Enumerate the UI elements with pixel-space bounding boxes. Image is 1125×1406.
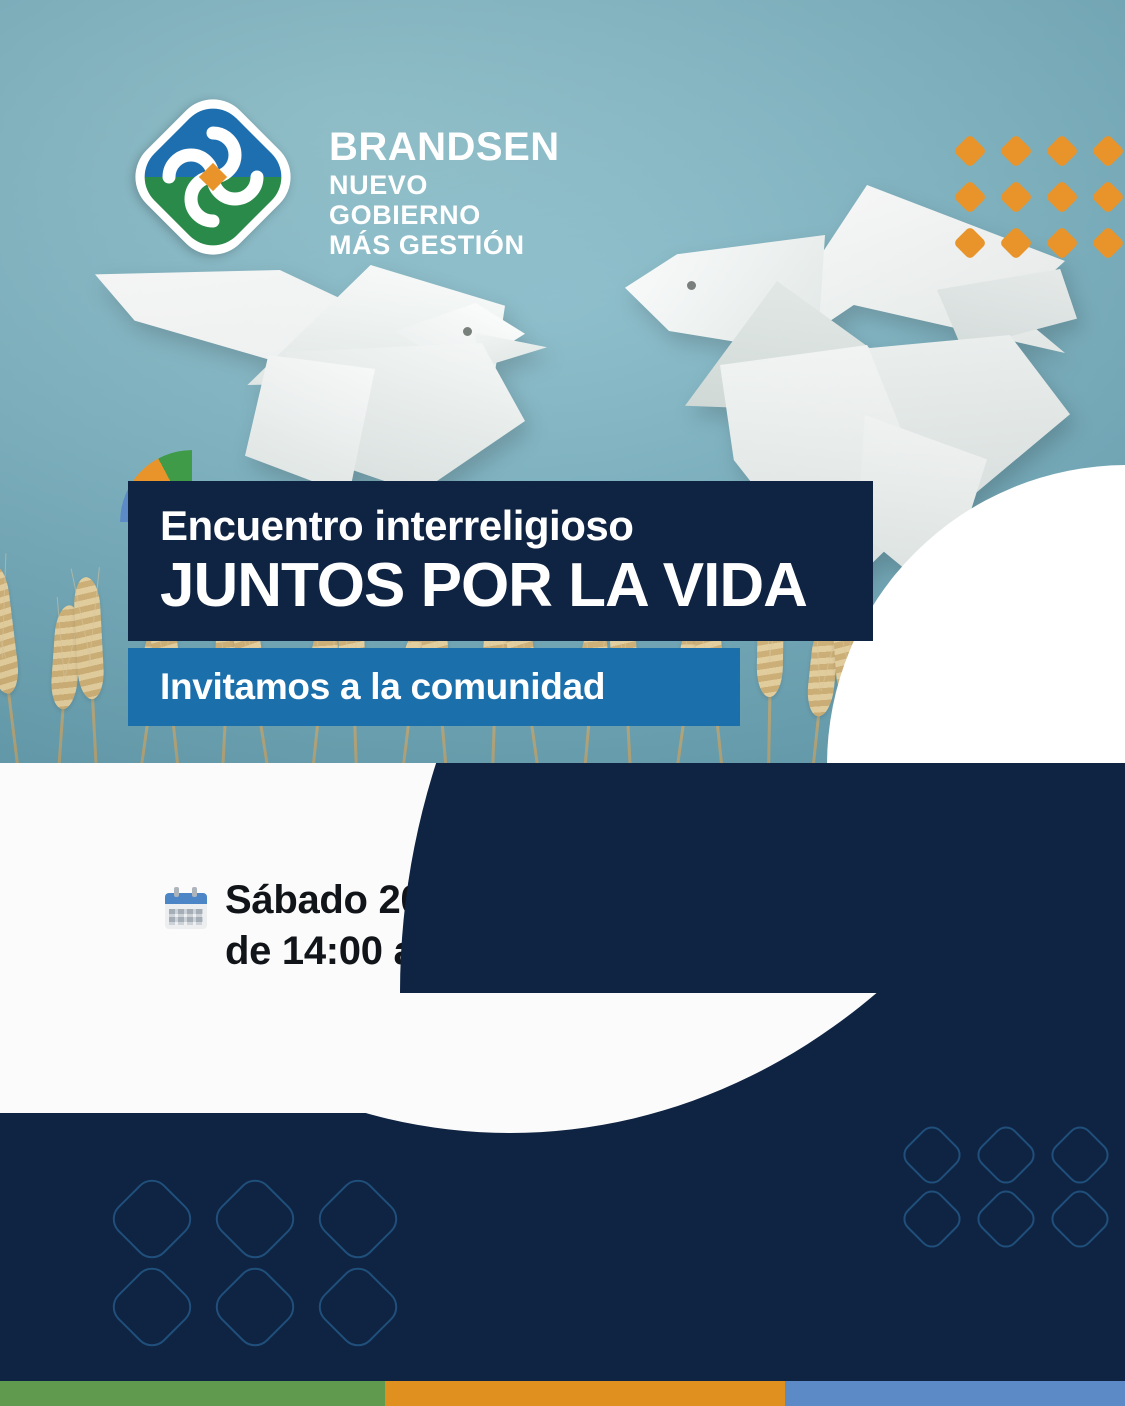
- dot-icon: [953, 226, 987, 260]
- info-row: Sábado 20/09 de 14:00 a 17:00 hs Club So…: [163, 875, 1027, 977]
- dot-pattern-decoration: [947, 128, 1125, 266]
- event-title: JUNTOS POR LA VIDA: [160, 553, 873, 618]
- dot-icon: [1045, 226, 1079, 260]
- rounded-diamond-outline-icon: [311, 1172, 404, 1265]
- footer-section: [0, 1113, 1125, 1406]
- rounded-diamond-outline-icon: [311, 1260, 404, 1353]
- diamond-pattern-right: [895, 1123, 1117, 1251]
- dot-icon: [999, 226, 1033, 260]
- stripe-orange: [385, 1381, 785, 1406]
- rounded-diamond-outline-icon: [1046, 1185, 1114, 1253]
- invite-banner: Invitamos a la comunidad: [128, 648, 740, 726]
- rounded-diamond-outline-icon: [972, 1121, 1040, 1189]
- stripe-green: [0, 1381, 385, 1406]
- date-line-1: Sábado 20/09: [225, 878, 477, 922]
- place-text: Club Social: [813, 875, 1028, 926]
- dot-icon: [1091, 180, 1125, 214]
- brand-tagline-line2: MÁS GESTIÓN: [329, 230, 560, 260]
- dot-icon: [953, 180, 987, 214]
- date-block: Sábado 20/09 de 14:00 a 17:00 hs: [163, 875, 584, 977]
- dot-icon: [1045, 134, 1079, 168]
- dot-icon: [1091, 226, 1125, 260]
- rounded-diamond-outline-icon: [208, 1260, 301, 1353]
- event-subtitle: Encuentro interreligioso: [160, 504, 873, 548]
- dot-icon: [1045, 180, 1079, 214]
- rounded-diamond-outline-icon: [972, 1185, 1040, 1253]
- date-line-2: de 14:00 a 17:00 hs: [225, 929, 584, 973]
- place-block: Club Social: [759, 875, 1028, 931]
- dot-icon: [999, 134, 1033, 168]
- dot-icon: [953, 134, 987, 168]
- rounded-diamond-outline-icon: [898, 1121, 966, 1189]
- bottom-color-stripe: [0, 1381, 1125, 1406]
- rounded-diamond-outline-icon: [898, 1185, 966, 1253]
- date-text: Sábado 20/09 de 14:00 a 17:00 hs: [225, 875, 584, 977]
- brand-text-block: BRANDSEN NUEVO GOBIERNO MÁS GESTIÓN: [329, 127, 560, 261]
- brandsen-clover-logo-icon: [133, 97, 293, 257]
- rounded-diamond-outline-icon: [105, 1172, 198, 1265]
- dot-icon: [1091, 134, 1125, 168]
- stripe-blue: [785, 1381, 1125, 1406]
- brandsen-logo[interactable]: BRANDSEN NUEVO GOBIERNO MÁS GESTIÓN: [133, 97, 293, 287]
- rounded-diamond-outline-icon: [1046, 1121, 1114, 1189]
- calendar-icon: [163, 885, 209, 931]
- brand-name: BRANDSEN: [329, 127, 560, 167]
- invite-text: Invitamos a la comunidad: [160, 666, 605, 708]
- brand-tagline-line1: NUEVO GOBIERNO: [329, 170, 560, 230]
- poster-canvas: BRANDSEN NUEVO GOBIERNO MÁS GESTIÓN Encu…: [0, 0, 1125, 1406]
- title-banner: Encuentro interreligioso JUNTOS POR LA V…: [128, 481, 873, 641]
- diamond-pattern-left: [100, 1175, 409, 1351]
- dot-icon: [999, 180, 1033, 214]
- rounded-diamond-outline-icon: [208, 1172, 301, 1265]
- location-pin-icon: [759, 881, 799, 931]
- rounded-diamond-outline-icon: [105, 1260, 198, 1353]
